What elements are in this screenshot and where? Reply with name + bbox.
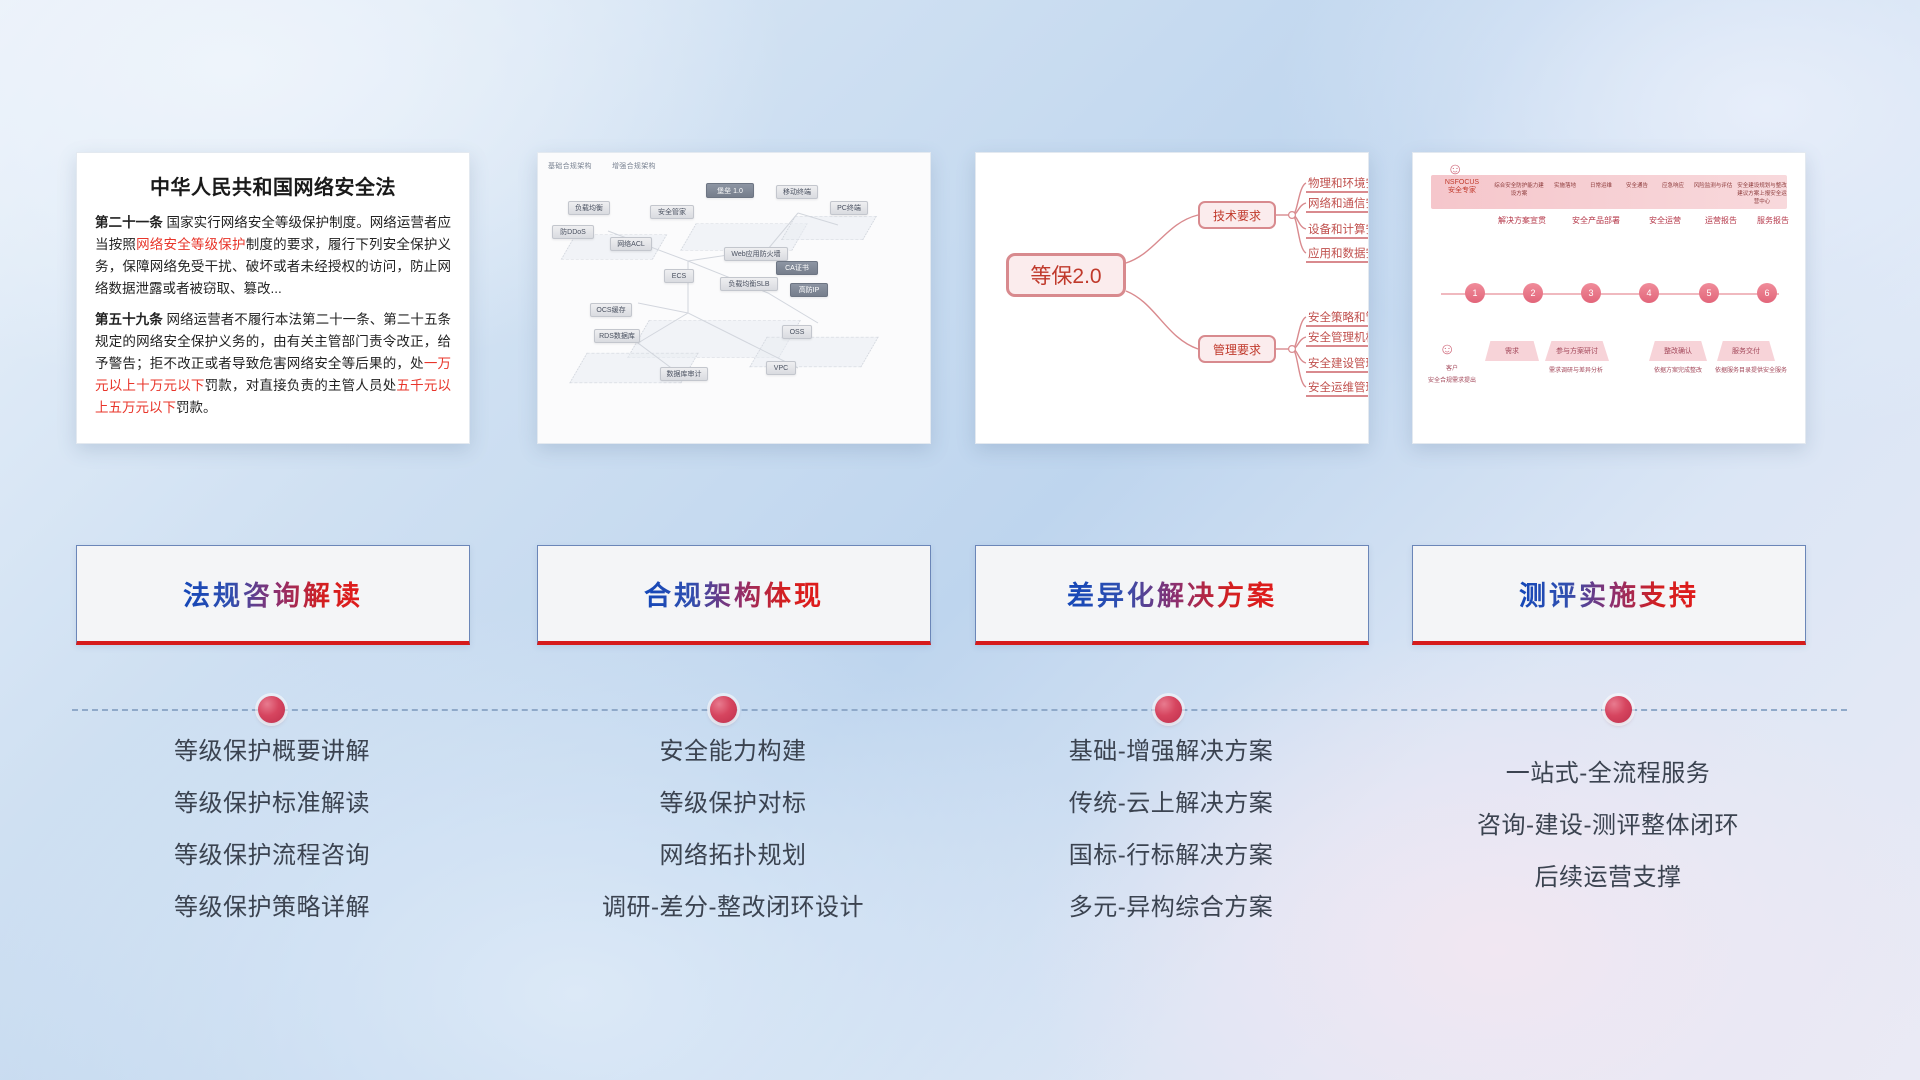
timeline-bullet-4[interactable] bbox=[1605, 696, 1632, 723]
arch-node: PC终端 bbox=[830, 201, 868, 215]
nsfocus-top-cell: 安全通告 bbox=[1621, 181, 1653, 189]
timeline-bullet-2[interactable] bbox=[710, 696, 737, 723]
expert-avatar-icon: ☺ bbox=[1447, 161, 1463, 179]
image-card-row: 中华人民共和国网络安全法 第二十一条 国家实行网络安全等级保护制度。网络运营者应… bbox=[0, 0, 1920, 440]
mindmap-branch-management[interactable]: 管理要求 bbox=[1198, 335, 1276, 363]
arch-node: 高防IP bbox=[790, 283, 828, 297]
list-assessment-support: 一站式-全流程服务 咨询-建设-测评整体闭环 后续运营支撑 bbox=[1412, 762, 1804, 918]
list-item: 等级保护流程咨询 bbox=[76, 844, 468, 868]
arch-node: 负载均衡 bbox=[568, 201, 610, 215]
header-assessment-support[interactable]: 测评实施支持 bbox=[1412, 545, 1806, 645]
mindmap-leaf: 物理和环境安全 bbox=[1308, 175, 1369, 191]
nsfocus-top-cell: 综合安全防护能力建设方案 bbox=[1493, 181, 1545, 197]
header-label: 合规架构体现 bbox=[644, 574, 824, 613]
law-article-59-text-c: 罚款。 bbox=[176, 400, 217, 415]
header-regulation-consulting[interactable]: 法规咨询解读 bbox=[76, 545, 470, 645]
list-item: 一站式-全流程服务 bbox=[1412, 762, 1804, 786]
mindmap-leaf: 网络和通信安全 bbox=[1308, 195, 1369, 211]
law-card: 中华人民共和国网络安全法 第二十一条 国家实行网络安全等级保护制度。网络运营者应… bbox=[76, 152, 470, 444]
nsfocus-row-title: 运营报告 bbox=[1695, 215, 1747, 226]
nsfocus-step[interactable]: 1 bbox=[1465, 283, 1485, 303]
nsfocus-bottom-label: 服务交付 bbox=[1719, 346, 1773, 356]
nsfocus-axis bbox=[1441, 293, 1779, 295]
nsfocus-step[interactable]: 3 bbox=[1581, 283, 1601, 303]
timeline-bullet-1[interactable] bbox=[258, 696, 285, 723]
nsfocus-row-title: 安全产品部署 bbox=[1565, 215, 1627, 226]
law-article-59-text-b: 罚款，对直接负责的主管人员处 bbox=[205, 378, 397, 393]
header-label: 法规咨询解读 bbox=[183, 574, 363, 613]
nsfocus-bottom-label: 安全合规需求提出 bbox=[1423, 375, 1481, 384]
nsfocus-bottom-label: 需求 bbox=[1487, 346, 1537, 356]
timeline-dashed-line bbox=[72, 709, 1847, 711]
section-header-row: 法规咨询解读 合规架构体现 差异化解决方案 测评实施支持 bbox=[0, 545, 1920, 650]
timeline-bullet-3[interactable] bbox=[1155, 696, 1182, 723]
nsfocus-top-cell: 实施落地 bbox=[1549, 181, 1581, 189]
mindmap-leaf: 安全建设管理 bbox=[1308, 355, 1369, 371]
mindmap-card: 等保2.0 技术要求 管理要求 物理和环境安全 网络和通信安全 设备和计算安全 … bbox=[975, 152, 1369, 444]
mindmap-leaf: 安全管理机构和人员 bbox=[1308, 329, 1369, 345]
mindmap-leaf: 安全策略和管理制度 bbox=[1308, 309, 1369, 325]
arch-node: Web应用防火墙 bbox=[724, 247, 788, 261]
nsfocus-logo: NSFOCUS 安全专家 bbox=[1437, 177, 1487, 207]
law-article-21: 第二十一条 国家实行网络安全等级保护制度。网络运营者应当按照网络安全等级保护制度… bbox=[95, 212, 451, 299]
nsfocus-logo-line1: NSFOCUS bbox=[1437, 179, 1487, 187]
nsfocus-row-title: 安全运营 bbox=[1639, 215, 1691, 226]
nsfocus-logo-line2: 安全专家 bbox=[1437, 187, 1487, 195]
arch-node: OCS缓存 bbox=[590, 303, 632, 317]
list-item: 网络拓扑规划 bbox=[537, 844, 929, 868]
arch-node: 数据库审计 bbox=[660, 367, 708, 381]
header-compliance-architecture[interactable]: 合规架构体现 bbox=[537, 545, 931, 645]
nsfocus-bottom-label: 整改确认 bbox=[1651, 346, 1705, 356]
arch-node: 移动终端 bbox=[776, 185, 818, 199]
mindmap: 等保2.0 技术要求 管理要求 物理和环境安全 网络和通信安全 设备和计算安全 … bbox=[976, 153, 1368, 443]
detail-list-row: 等级保护概要讲解 等级保护标准解读 等级保护流程咨询 等级保护策略详解 安全能力… bbox=[0, 740, 1920, 960]
arch-node: 堡垒 1.0 bbox=[706, 183, 754, 198]
list-item: 多元-异构综合方案 bbox=[975, 896, 1367, 920]
list-item: 等级保护策略详解 bbox=[76, 896, 468, 920]
nsfocus-top-cell: 应急响应 bbox=[1657, 181, 1689, 189]
law-card-body: 中华人民共和国网络安全法 第二十一条 国家实行网络安全等级保护制度。网络运营者应… bbox=[77, 153, 469, 443]
list-differentiated-solution: 基础-增强解决方案 传统-云上解决方案 国标-行标解决方案 多元-异构综合方案 bbox=[975, 740, 1367, 948]
mindmap-junction-icon bbox=[1289, 212, 1296, 219]
nsfocus-bottom-label: 需求调研与差异分析 bbox=[1539, 365, 1613, 374]
list-item: 等级保护概要讲解 bbox=[76, 740, 468, 764]
nsfocus-step[interactable]: 5 bbox=[1699, 283, 1719, 303]
header-label: 差异化解决方案 bbox=[1067, 574, 1277, 613]
law-card-title: 中华人民共和国网络安全法 bbox=[95, 171, 451, 200]
timeline bbox=[0, 690, 1920, 730]
list-item: 等级保护对标 bbox=[537, 792, 929, 816]
list-item: 国标-行标解决方案 bbox=[975, 844, 1367, 868]
nsfocus-bottom-label: 依据服务目录提供安全服务 bbox=[1711, 365, 1791, 374]
header-label: 测评实施支持 bbox=[1519, 574, 1699, 613]
list-item: 等级保护标准解读 bbox=[76, 792, 468, 816]
architecture-diagram: 基础合规架构 增强合规架构 bbox=[538, 153, 930, 443]
slide-root: 中华人民共和国网络安全法 第二十一条 国家实行网络安全等级保护制度。网络运营者应… bbox=[0, 0, 1920, 1080]
nsfocus-bottom-label: 参与方案研讨 bbox=[1547, 346, 1607, 356]
law-article-21-highlight: 网络安全等级保护 bbox=[136, 237, 246, 252]
nsfocus-step[interactable]: 6 bbox=[1757, 283, 1777, 303]
mindmap-junction-icon bbox=[1289, 346, 1296, 353]
nsfocus-bottom-label: 客户 bbox=[1429, 363, 1475, 372]
law-article-59-label: 第五十九条 bbox=[95, 312, 163, 327]
mindmap-branch-technical[interactable]: 技术要求 bbox=[1198, 201, 1276, 229]
nsfocus-bottom-label: 依据方案完成整改 bbox=[1641, 365, 1715, 374]
nsfocus-step[interactable]: 4 bbox=[1639, 283, 1659, 303]
list-item: 基础-增强解决方案 bbox=[975, 740, 1367, 764]
arch-node: VPC bbox=[766, 361, 796, 375]
list-item: 调研-差分-整改闭环设计 bbox=[537, 896, 929, 920]
list-item: 安全能力构建 bbox=[537, 740, 929, 764]
list-item: 后续运营支撑 bbox=[1412, 866, 1804, 890]
mindmap-root-node[interactable]: 等保2.0 bbox=[1006, 253, 1126, 297]
list-compliance-architecture: 安全能力构建 等级保护对标 网络拓扑规划 调研-差分-整改闭环设计 bbox=[537, 740, 929, 948]
arch-node: OSS bbox=[782, 325, 812, 339]
arch-node: 网络ACL bbox=[610, 237, 652, 251]
nsfocus-top-cell: 安全建设规划与整改建议方案上报安全运营中心 bbox=[1735, 181, 1789, 205]
arch-node: 防DDoS bbox=[552, 225, 594, 239]
nsfocus-step[interactable]: 2 bbox=[1523, 283, 1543, 303]
list-item: 传统-云上解决方案 bbox=[975, 792, 1367, 816]
arch-node: 安全管家 bbox=[650, 205, 694, 219]
nsfocus-row-title: 服务报告 bbox=[1747, 215, 1799, 226]
nsfocus-card: NSFOCUS 安全专家 ☺ 综合安全防护能力建设方案 实施落地 日常运维 安全… bbox=[1412, 152, 1806, 444]
arch-node: CA证书 bbox=[776, 261, 818, 275]
arch-node: ECS bbox=[664, 269, 694, 283]
nsfocus-top-cell: 风险监测与评估 bbox=[1693, 181, 1733, 189]
arch-node: RDS数据库 bbox=[594, 329, 640, 343]
list-item: 咨询-建设-测评整体闭环 bbox=[1412, 814, 1804, 838]
header-differentiated-solution[interactable]: 差异化解决方案 bbox=[975, 545, 1369, 645]
law-article-59: 第五十九条 网络运营者不履行本法第二十一条、第二十五条规定的网络安全保护义务的，… bbox=[95, 309, 451, 418]
mindmap-leaf: 安全运维管理 bbox=[1308, 379, 1369, 395]
mindmap-leaf: 应用和数据安全 bbox=[1308, 245, 1369, 261]
architecture-card: 基础合规架构 增强合规架构 bbox=[537, 152, 931, 444]
nsfocus-row-title: 解决方案宣贯 bbox=[1491, 215, 1553, 226]
mindmap-leaf: 设备和计算安全 bbox=[1308, 221, 1369, 237]
list-regulation-consulting: 等级保护概要讲解 等级保护标准解读 等级保护流程咨询 等级保护策略详解 bbox=[76, 740, 468, 948]
law-article-21-label: 第二十一条 bbox=[95, 215, 163, 230]
nsfocus-timeline: NSFOCUS 安全专家 ☺ 综合安全防护能力建设方案 实施落地 日常运维 安全… bbox=[1413, 153, 1805, 443]
arch-node: 负载均衡SLB bbox=[720, 277, 778, 291]
nsfocus-top-cell: 日常运维 bbox=[1585, 181, 1617, 189]
customer-avatar-icon: ☺ bbox=[1439, 341, 1455, 359]
